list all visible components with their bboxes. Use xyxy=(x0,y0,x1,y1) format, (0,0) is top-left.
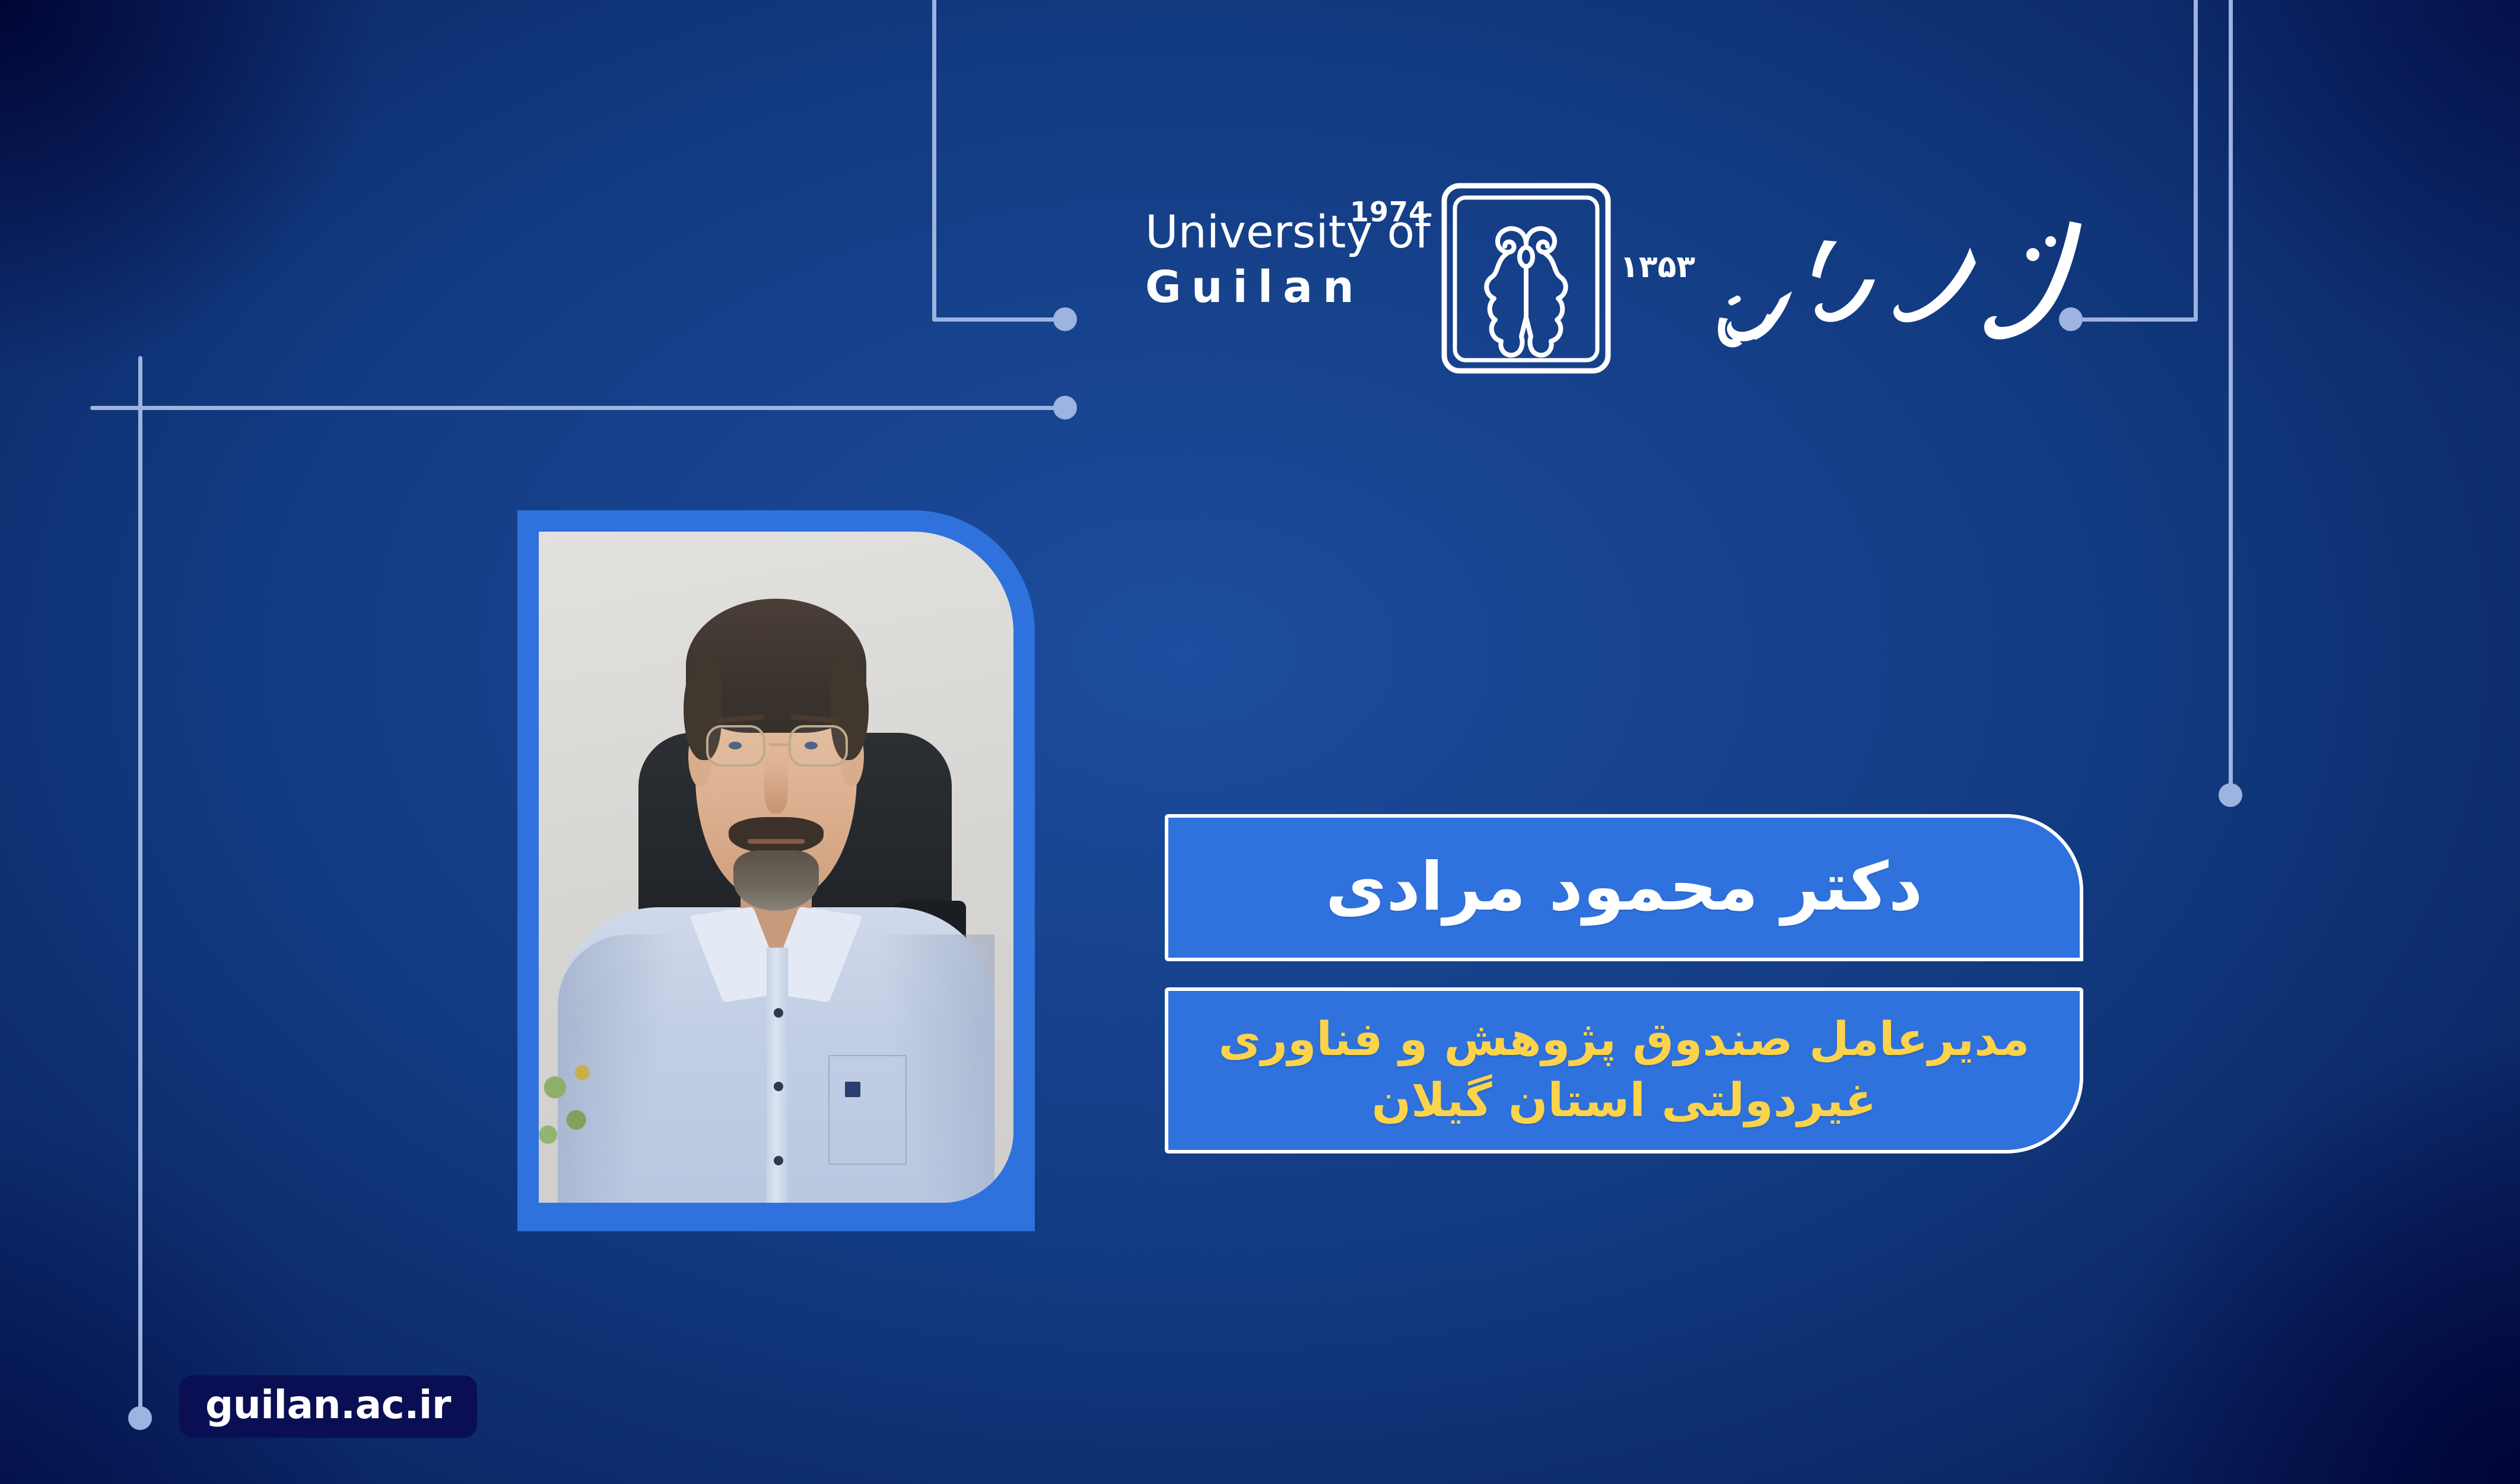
logo-year-persian: ۱۳۵۳ xyxy=(1620,249,1695,285)
deco-dot-top-left xyxy=(1053,307,1077,331)
photo-eyeglass-lens-right xyxy=(789,725,848,767)
photo-plant xyxy=(539,1028,615,1176)
guilan-university-emblem-icon xyxy=(1437,180,1615,376)
portrait-photo xyxy=(539,532,1013,1203)
university-logo: 1974 University of Guilan ۱۳۵۳ xyxy=(1145,187,2106,386)
logo-line-guilan: Guilan xyxy=(1145,265,1424,309)
deco-dot-bottom-left xyxy=(128,1406,152,1430)
photo-eyeglass-bridge xyxy=(769,743,789,746)
photo-nose xyxy=(764,760,788,814)
deco-vline-right-long xyxy=(2229,0,2233,792)
photo-moustache xyxy=(729,817,824,854)
person-title-card: مدیرعامل صندوق پژوهش و فناوری غیردولتی ا… xyxy=(1165,987,2083,1153)
deco-hline-top-left xyxy=(932,317,1058,322)
photo-eyeglass-lens-left xyxy=(706,725,765,767)
deco-vline-top-right xyxy=(2194,0,2198,322)
deco-vline-top-left xyxy=(932,0,936,322)
photo-pocket-logo xyxy=(845,1082,860,1097)
person-name-card: دکتر محمود مرادی xyxy=(1165,814,2083,961)
logo-english-text: University of Guilan xyxy=(1145,209,1424,309)
deco-vline-left-long xyxy=(138,356,142,1418)
deco-hline-mid-left xyxy=(90,406,1058,410)
photo-beard xyxy=(733,850,819,911)
photo-mouth xyxy=(748,839,805,844)
logo-name-persian-calligraphy xyxy=(1697,193,2100,383)
poster-canvas: 1974 University of Guilan ۱۳۵۳ xyxy=(0,0,2520,1484)
photo-shirt-pocket xyxy=(828,1055,907,1165)
photo-shirt-button xyxy=(774,1008,783,1018)
person-name: دکتر محمود مرادی xyxy=(1326,851,1922,924)
deco-dot-mid-left xyxy=(1053,396,1077,420)
deco-dot-right xyxy=(2219,783,2242,807)
website-badge[interactable]: guilan.ac.ir xyxy=(179,1375,477,1438)
logo-line-university-of: University of xyxy=(1145,209,1424,255)
person-title: مدیرعامل صندوق پژوهش و فناوری غیردولتی ا… xyxy=(1192,1009,2056,1132)
portrait-frame xyxy=(517,510,1035,1231)
photo-shirt-button xyxy=(774,1156,783,1165)
